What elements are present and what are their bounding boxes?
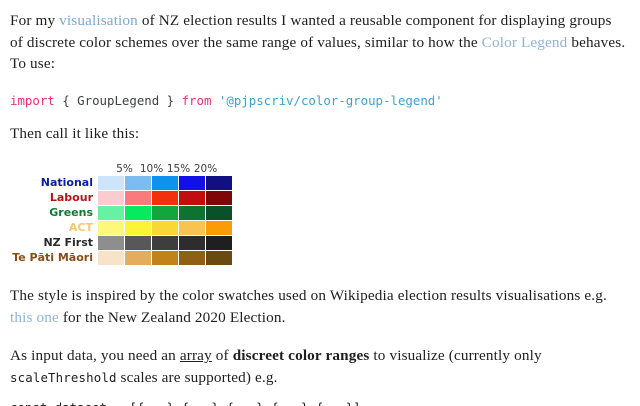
legend-row: NZ First: [10, 235, 270, 250]
legend-swatch: [125, 176, 151, 190]
input-data-paragraph: As input data, you need an array of disc…: [10, 345, 628, 388]
legend-row-label: NZ First: [10, 236, 98, 249]
scale-threshold-code: scaleThreshold: [10, 370, 117, 385]
legend-tick: 15%: [165, 163, 192, 175]
legend-row: Labour: [10, 190, 270, 205]
legend-swatch-group: [98, 176, 232, 190]
legend-row-label: ACT: [10, 221, 98, 234]
legend-row-label: Te Pāti Māori: [10, 251, 98, 264]
input-p2: of: [212, 347, 233, 364]
legend-swatch: [206, 236, 232, 250]
legend-swatch: [152, 191, 178, 205]
legend-row-label: Greens: [10, 206, 98, 219]
visualisation-link[interactable]: visualisation: [59, 12, 138, 29]
legend-swatch: [179, 191, 205, 205]
legend-swatch-group: [98, 206, 232, 220]
legend-swatch: [98, 191, 124, 205]
legend-swatch: [179, 221, 205, 235]
legend-swatch: [152, 236, 178, 250]
import-code-block: import { GroupLegend } from '@pjpscriv/c…: [10, 93, 628, 109]
legend-swatch: [179, 236, 205, 250]
legend-rows-container: NationalLabourGreensACTNZ FirstTe Pāti M…: [10, 175, 270, 265]
legend-row-label: Labour: [10, 191, 98, 204]
article-page: For my visualisation of NZ election resu…: [0, 0, 640, 406]
legend-swatch: [152, 206, 178, 220]
legend-swatch-group: [98, 236, 232, 250]
legend-swatch: [98, 206, 124, 220]
legend-swatch: [179, 251, 205, 265]
this-one-link[interactable]: this one: [10, 309, 59, 326]
style-prefix: The style is inspired by the color swatc…: [10, 287, 607, 304]
import-keyword: import: [10, 93, 55, 108]
legend-swatch: [125, 206, 151, 220]
legend-tick: 5%: [111, 163, 138, 175]
then-call-paragraph: Then call it like this:: [10, 123, 628, 145]
input-p4: scales are supported) e.g.: [117, 369, 278, 386]
array-underlined[interactable]: array: [180, 347, 212, 364]
legend-swatch-group: [98, 191, 232, 205]
legend-row: ACT: [10, 220, 270, 235]
legend-swatch: [206, 251, 232, 265]
legend-swatch: [206, 206, 232, 220]
legend-swatch: [152, 221, 178, 235]
spacer-5: [10, 328, 628, 345]
legend-swatch: [98, 236, 124, 250]
legend-swatch: [179, 206, 205, 220]
legend-swatch-group: [98, 221, 232, 235]
import-module-string: '@pjpscriv/color-group-legend': [219, 93, 443, 108]
intro-paragraph: For my visualisation of NZ election resu…: [10, 10, 628, 75]
legend-row: Greens: [10, 205, 270, 220]
legend-swatch: [179, 176, 205, 190]
legend-swatch: [98, 251, 124, 265]
legend-swatch: [125, 191, 151, 205]
legend-tick: 20%: [192, 163, 219, 175]
legend-swatch: [125, 221, 151, 235]
legend-swatch: [98, 176, 124, 190]
legend-swatch: [125, 236, 151, 250]
spacer-4: [10, 265, 628, 285]
from-keyword: from: [182, 93, 212, 108]
legend-swatch: [98, 221, 124, 235]
legend-row: Te Pāti Māori: [10, 250, 270, 265]
legend-swatch: [152, 251, 178, 265]
spacer-1: [10, 75, 628, 93]
legend-swatch: [152, 176, 178, 190]
spacer-6: [10, 388, 628, 400]
intro-prefix: For my: [10, 12, 59, 29]
legend-tick: 10%: [138, 163, 165, 175]
legend-row: National: [10, 175, 270, 190]
legend-row-label: National: [10, 176, 98, 189]
spacer-3: [10, 144, 628, 160]
cut-off-code-line: const dataset = [{...},{...},{...},{...}…: [10, 400, 628, 406]
import-braces: { GroupLegend }: [55, 93, 182, 108]
style-suffix: for the New Zealand 2020 Election.: [59, 309, 286, 326]
legend-swatch: [206, 221, 232, 235]
discreet-color-ranges-bold: discreet color ranges: [233, 347, 370, 364]
style-paragraph: The style is inspired by the color swatc…: [10, 285, 628, 328]
input-p3: to visualize (currently only: [369, 347, 541, 364]
legend-swatch-group: [98, 251, 232, 265]
legend-swatch: [206, 191, 232, 205]
color-legend-link[interactable]: Color Legend: [482, 34, 568, 51]
legend-tick-row: 5% 10% 15% 20%: [103, 160, 270, 175]
spacer-2: [10, 109, 628, 123]
legend-swatch: [125, 251, 151, 265]
import-space: [211, 93, 218, 108]
legend-swatch: [206, 176, 232, 190]
group-legend: 5% 10% 15% 20% NationalLabourGreensACTNZ…: [10, 160, 270, 265]
input-p1: As input data, you need an: [10, 347, 180, 364]
